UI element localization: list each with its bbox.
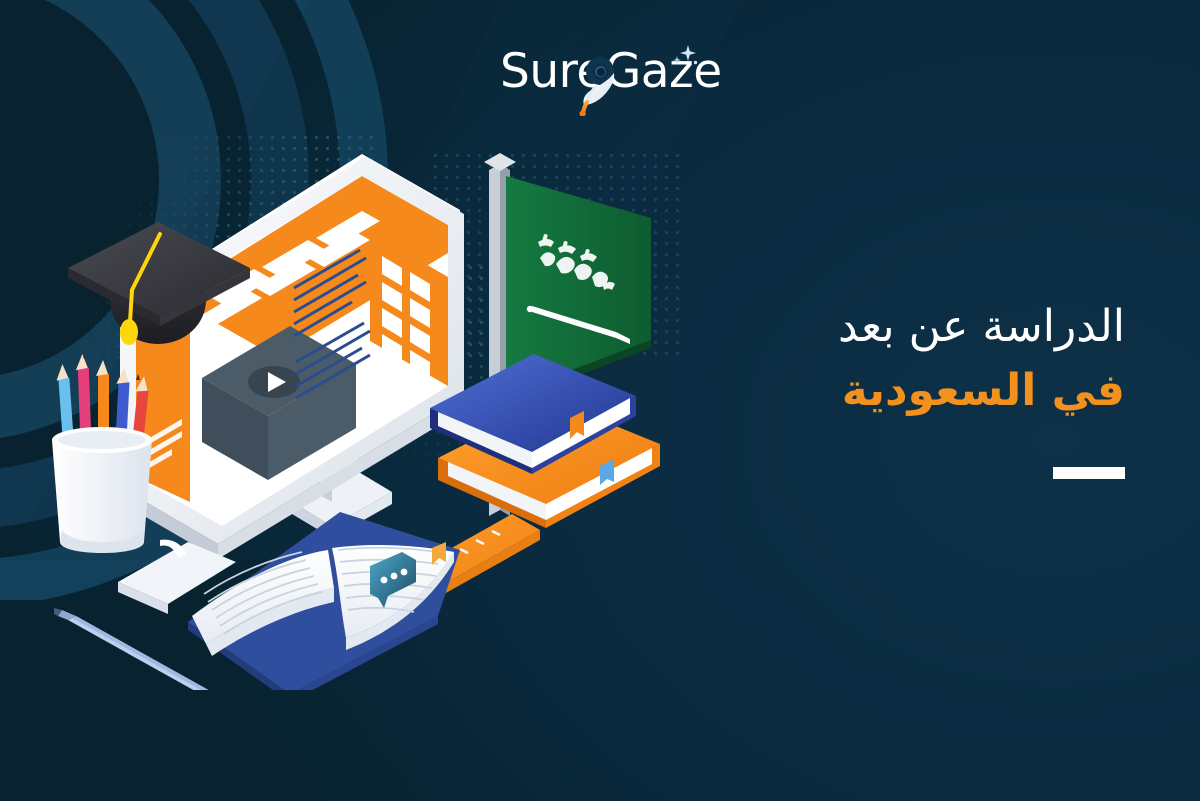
- promotional-banner: SureGaze: [0, 0, 1200, 801]
- desktop-monitor: [120, 154, 480, 560]
- headline-underline-rule: [1053, 467, 1125, 479]
- illustration-svg: [40, 110, 700, 690]
- brand-logo[interactable]: SureGaze: [500, 38, 710, 110]
- book-stack: [430, 354, 660, 528]
- headline-line-1: الدراسة عن بعد: [705, 300, 1125, 354]
- illustration-isometric-scene: [40, 110, 700, 690]
- headline-block: الدراسة عن بعد في السعودية: [705, 300, 1125, 479]
- sparkle-icon: [668, 42, 702, 80]
- headline-line-2: في السعودية: [705, 364, 1125, 418]
